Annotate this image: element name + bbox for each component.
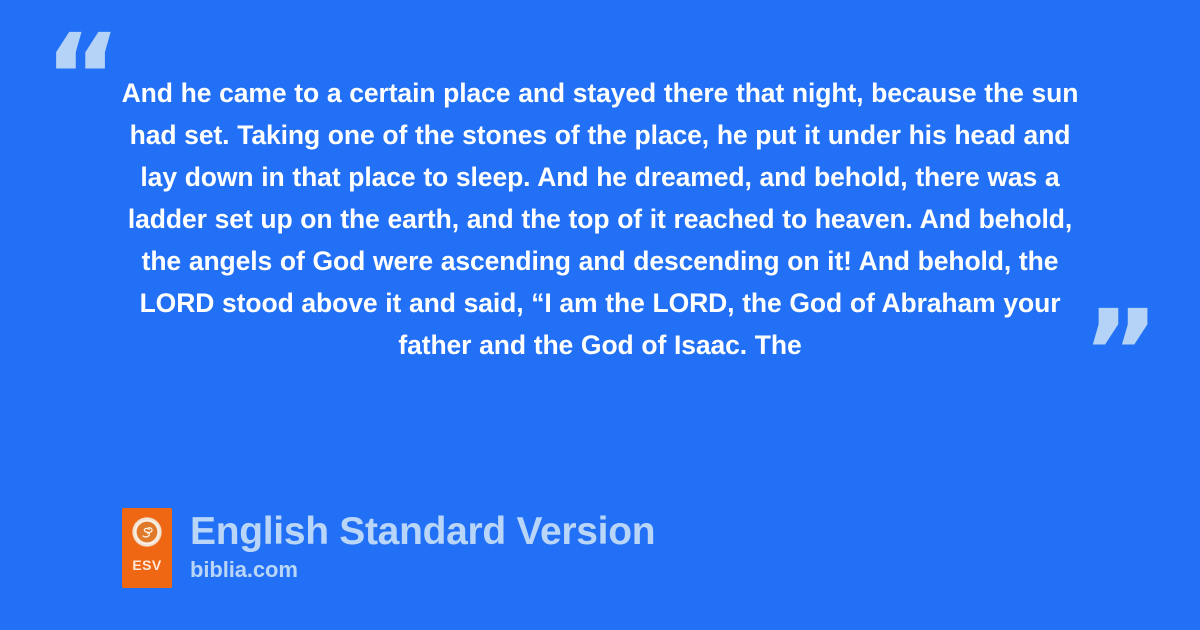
attribution-text-group: English Standard Version biblia.com [190, 508, 655, 583]
attribution-footer: ESV English Standard Version biblia.com [122, 508, 655, 588]
verse-image-card: “ And he came to a certain place and sta… [0, 0, 1200, 630]
esv-logo-abbreviation: ESV [132, 558, 161, 572]
quote-block: And he came to a certain place and staye… [108, 72, 1092, 366]
bible-version-name: English Standard Version [190, 510, 655, 554]
esv-logo: ESV [122, 508, 172, 588]
site-url-label: biblia.com [190, 557, 655, 583]
quote-text: And he came to a certain place and staye… [108, 72, 1092, 366]
closing-quote-mark-icon: ” [1082, 294, 1160, 412]
esv-seal-icon [132, 517, 162, 547]
